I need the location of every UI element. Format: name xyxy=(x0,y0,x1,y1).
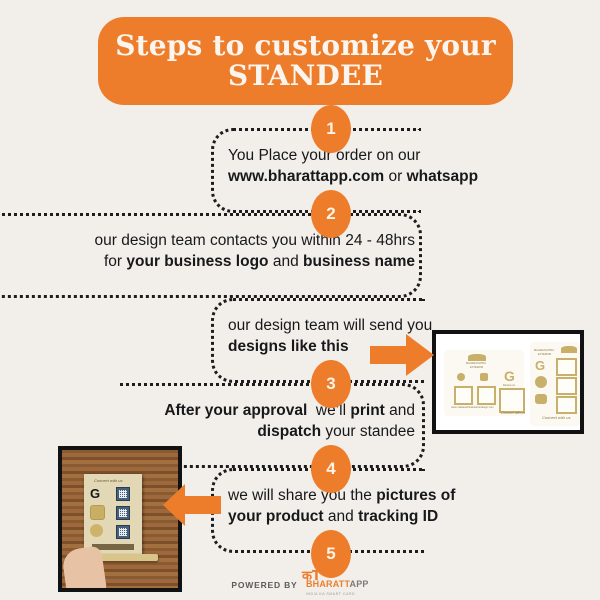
step-badge-3: 3 xyxy=(311,360,351,408)
step-1-text: You Place your order on ourwww.bharattap… xyxy=(228,145,558,188)
qr-placeholder xyxy=(556,358,577,376)
design-mockup-preview: MAHARASHTRA EXTERIOR www.maharashtraexte… xyxy=(432,330,584,434)
step-badge-5: 5 xyxy=(311,530,351,578)
youtube-icon xyxy=(535,394,547,404)
standee-caption: Connect with us xyxy=(94,478,122,483)
step-4-text: After your approval we’ll print anddispa… xyxy=(120,400,415,443)
instagram-icon xyxy=(90,505,105,520)
qr-placeholder xyxy=(556,377,577,395)
design-caption: Connect with us xyxy=(542,415,570,420)
footer: POWERED BY BHARATTAPP INDIA KA SMART CAR… xyxy=(0,574,600,596)
arrow-right-icon xyxy=(370,334,434,381)
qr-code xyxy=(116,525,130,539)
qr-placeholder xyxy=(454,386,473,405)
youtube-icon xyxy=(480,373,488,381)
qr-placeholder xyxy=(477,386,496,405)
brand-tagline: INDIA KA SMART CARD xyxy=(306,592,369,596)
logo-wings-icon xyxy=(468,354,486,361)
design-card-landscape: MAHARASHTRA EXTERIOR www.maharashtraexte… xyxy=(444,350,524,416)
standee-board: Connect with us G xyxy=(84,474,142,556)
title-line-2: STANDEE xyxy=(115,61,496,91)
google-g-icon: G xyxy=(504,368,515,384)
title-banner: Steps to customize your STANDEE xyxy=(98,17,513,105)
brand-lockup: BHARATTAPP INDIA KA SMART CARD xyxy=(306,574,369,596)
design-brand-label: MAHARASHTRA xyxy=(466,362,486,365)
page-title: Steps to customize your STANDEE xyxy=(101,31,510,90)
powered-by-label: POWERED BY xyxy=(231,580,297,590)
design-card-portrait: MAHARASHTRA EXTERIOR G Connect with us xyxy=(530,342,580,426)
arrow-left-icon xyxy=(163,484,221,531)
whatsapp-icon xyxy=(90,524,103,537)
google-g-icon: G xyxy=(90,486,100,501)
design-brand-label-2: EXTERIOR xyxy=(538,353,551,356)
step-badge-2: 2 xyxy=(311,190,351,238)
brand-name-part1: BHARATT xyxy=(306,579,350,589)
qr-code xyxy=(116,487,130,501)
design-brand-label-2: EXTERIOR xyxy=(470,366,483,369)
brand-name: BHARATTAPP xyxy=(306,579,369,589)
qr-placeholder xyxy=(556,396,577,414)
infographic-canvas: Steps to customize your STANDEE You Plac… xyxy=(0,0,600,600)
step-5-text: we will share you the pictures ofyour pr… xyxy=(228,485,513,528)
facebook-icon xyxy=(457,373,465,381)
google-g-icon: G xyxy=(535,358,545,373)
design-caption: Connect with us xyxy=(501,411,525,415)
qr-placeholder xyxy=(499,388,525,413)
design-website-text: www.maharashtraexteriordesign.com xyxy=(451,406,494,409)
step-badge-1: 1 xyxy=(311,105,351,153)
design-canvas: MAHARASHTRA EXTERIOR www.maharashtraexte… xyxy=(436,334,580,430)
logo-wings-icon xyxy=(561,346,577,353)
step-2-text: our design team contacts you within 24 -… xyxy=(30,230,415,273)
title-line-1: Steps to customize your xyxy=(115,29,496,62)
qr-code xyxy=(116,506,130,520)
step-badge-4: 4 xyxy=(311,445,351,493)
design-brand-label: MAHARASHTRA xyxy=(534,349,554,352)
brand-name-part2: APP xyxy=(350,579,369,589)
facebook-icon xyxy=(535,376,547,388)
design-google-label: Review us xyxy=(503,384,515,387)
